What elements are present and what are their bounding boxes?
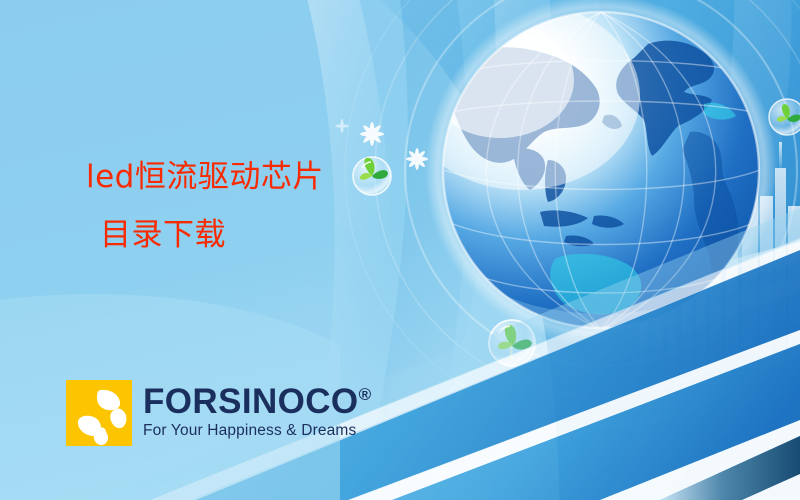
sparkle-icon [360, 122, 384, 146]
brand-logo-lockup: FORSINOCO ® For Your Happiness & Dreams [66, 380, 372, 446]
brand-name: FORSINOCO ® [143, 385, 372, 419]
four-petal-pinwheel-icon [66, 380, 132, 446]
registered-trademark-icon: ® [359, 386, 372, 403]
bubble-with-green-pinwheel-upper [353, 157, 391, 195]
logo-mark [66, 380, 132, 446]
sparkle-icon [406, 148, 428, 170]
slide-canvas: led恒流驱动芯片 目录下载 FORSINOCO ® For Your Happ… [0, 0, 800, 500]
brand-tagline: For Your Happiness & Dreams [143, 422, 372, 439]
brand-name-text: FORSINOCO [143, 385, 359, 419]
logo-text-block: FORSINOCO ® For Your Happiness & Dreams [143, 380, 372, 439]
bubble-with-green-pinwheel-right [769, 99, 800, 135]
